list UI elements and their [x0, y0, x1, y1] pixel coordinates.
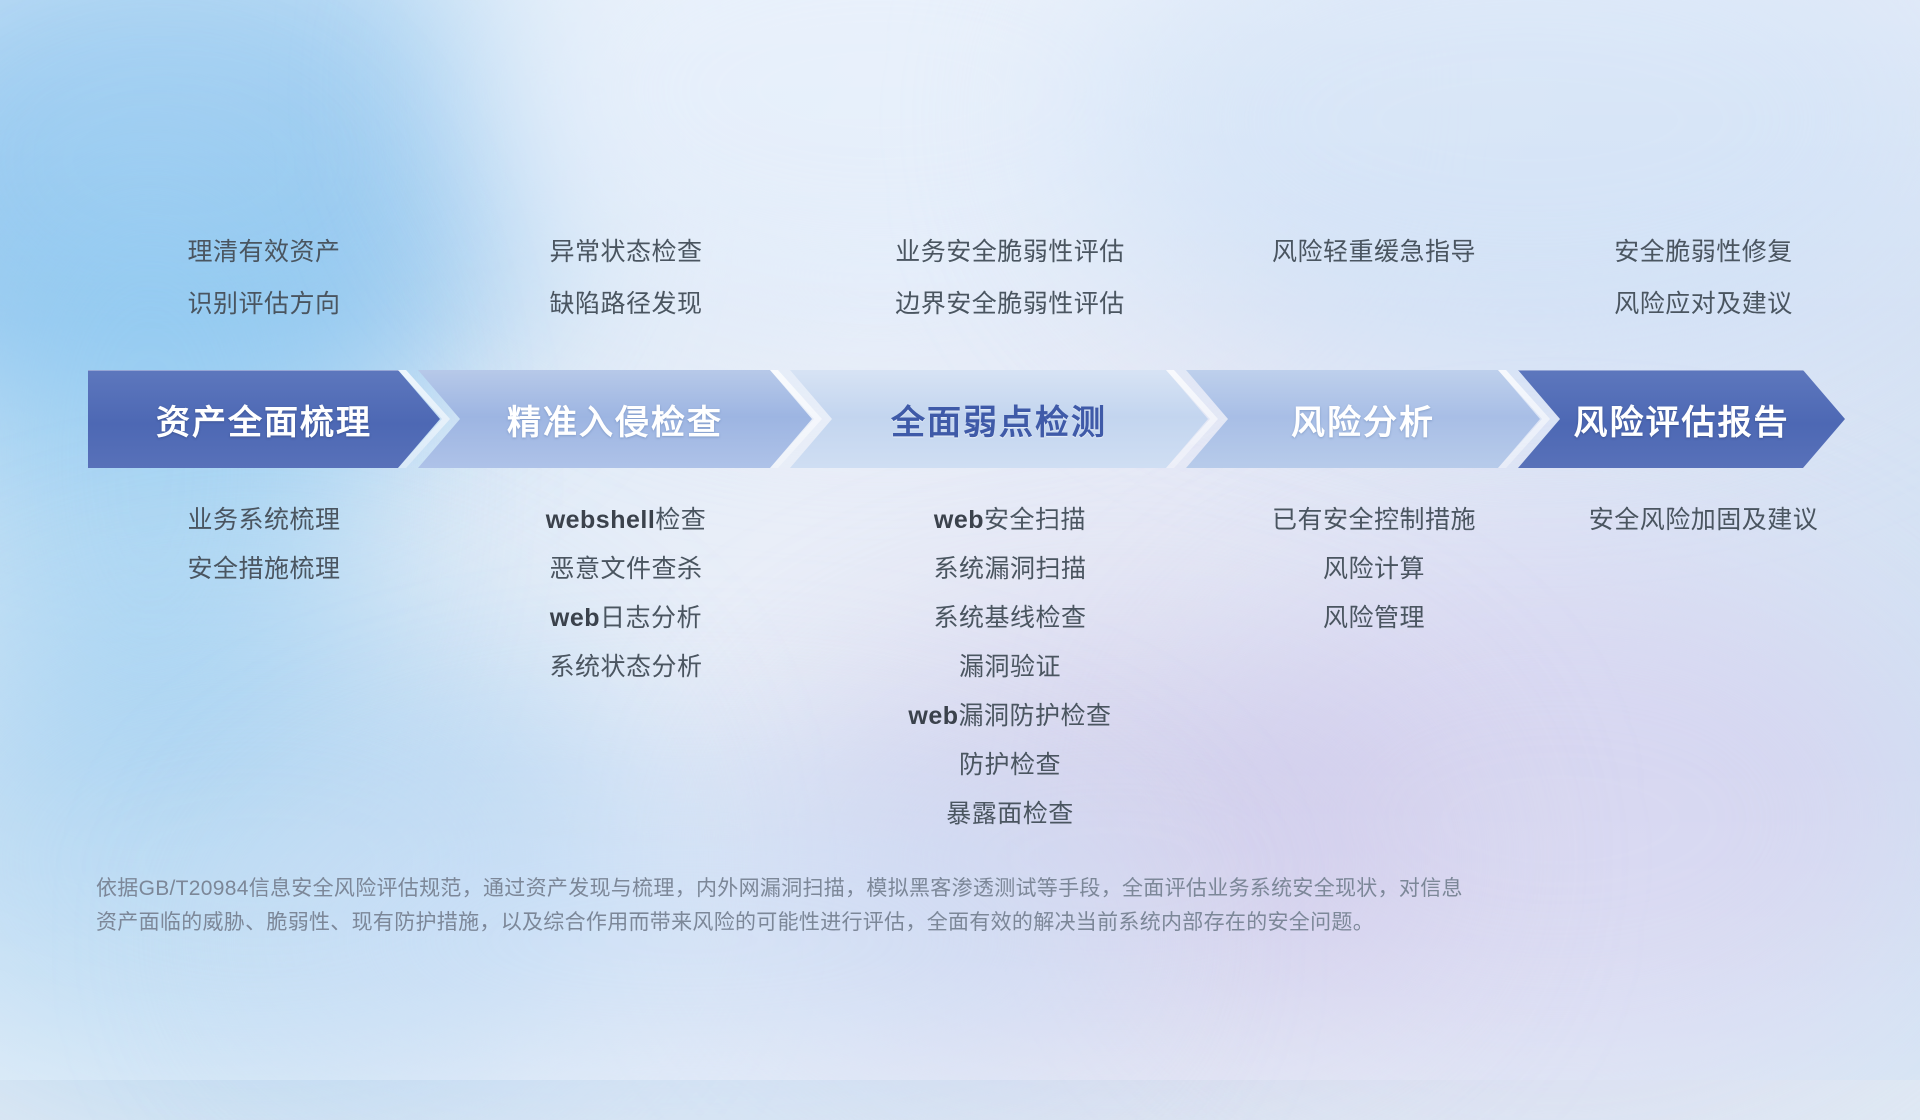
bottom-labels-risk-report: 安全风险加固及建议: [1540, 508, 1867, 827]
stage-title: 风险分析: [1186, 395, 1540, 444]
stage-chevron-weakness-detection[interactable]: 全面弱点检测: [790, 370, 1208, 468]
bottom-label: web安全扫描: [812, 508, 1208, 533]
stage-title: 资产全面梳理: [88, 395, 440, 444]
footer-line-1: 依据GB/T20984信息安全风险评估规范，通过资产发现与梳理，内外网漏洞扫描，…: [96, 872, 1656, 906]
stage-title: 精准入侵检查: [418, 395, 812, 444]
stage-title: 风险评估报告: [1518, 395, 1845, 444]
bottom-label: 风险管理: [1208, 606, 1540, 631]
top-labels-risk-analysis: 风险轻重缓急指导: [1208, 240, 1540, 317]
bottom-label: 暴露面检查: [812, 802, 1208, 827]
bottom-label: webshell检查: [440, 508, 812, 533]
bottom-label: web漏洞防护检查: [812, 704, 1208, 729]
top-label: 缺陷路径发现: [440, 292, 812, 317]
bottom-label: 系统状态分析: [440, 655, 812, 680]
bottom-label: 安全措施梳理: [88, 557, 440, 582]
top-labels-intrusion-check: 异常状态检查 缺陷路径发现: [440, 240, 812, 317]
top-label: 安全脆弱性修复: [1540, 240, 1867, 265]
bottom-label: 防护检查: [812, 753, 1208, 778]
bottom-label: 已有安全控制措施: [1208, 508, 1540, 533]
bottom-labels-intrusion-check: webshell检查 恶意文件查杀 web日志分析 系统状态分析: [440, 508, 812, 827]
top-label: 识别评估方向: [88, 292, 440, 317]
top-labels-weakness-detection: 业务安全脆弱性评估 边界安全脆弱性评估: [812, 240, 1208, 317]
top-label: 风险轻重缓急指导: [1208, 240, 1540, 265]
top-labels-risk-report: 安全脆弱性修复 风险应对及建议: [1540, 240, 1867, 317]
stage-chevron-intrusion-check[interactable]: 精准入侵检查: [418, 370, 812, 468]
top-labels-asset-inventory: 理清有效资产 识别评估方向: [88, 240, 440, 317]
bottom-label: 系统基线检查: [812, 606, 1208, 631]
bottom-label: web日志分析: [440, 606, 812, 631]
top-label: 边界安全脆弱性评估: [812, 292, 1208, 317]
stage-chevron-risk-analysis[interactable]: 风险分析: [1186, 370, 1540, 468]
bottom-labels-risk-analysis: 已有安全控制措施 风险计算 风险管理: [1208, 508, 1540, 827]
bottom-label: 业务系统梳理: [88, 508, 440, 533]
top-label: 风险应对及建议: [1540, 292, 1867, 317]
bottom-labels-weakness-detection: web安全扫描 系统漏洞扫描 系统基线检查 漏洞验证 web漏洞防护检查 防护检…: [812, 508, 1208, 827]
stage-title: 全面弱点检测: [790, 395, 1208, 444]
bottom-label-row: 业务系统梳理 安全措施梳理 webshell检查 恶意文件查杀 web日志分析 …: [0, 508, 1920, 827]
footer-line-2: 资产面临的威胁、脆弱性、现有防护措施，以及综合作用而带来风险的可能性进行评估，全…: [96, 906, 1656, 940]
process-diagram: 理清有效资产 识别评估方向 异常状态检查 缺陷路径发现 业务安全脆弱性评估 边界…: [0, 0, 1920, 1080]
bottom-labels-asset-inventory: 业务系统梳理 安全措施梳理: [88, 508, 440, 827]
stage-arrow-banner: 资产全面梳理 精准入侵检查 全面弱点检测 风险分析 风险评估报告: [88, 370, 1845, 468]
top-label: 业务安全脆弱性评估: [812, 240, 1208, 265]
bottom-label: 漏洞验证: [812, 655, 1208, 680]
top-label: 异常状态检查: [440, 240, 812, 265]
bottom-label: 系统漏洞扫描: [812, 557, 1208, 582]
top-label: 理清有效资产: [88, 240, 440, 265]
footer-description: 依据GB/T20984信息安全风险评估规范，通过资产发现与梳理，内外网漏洞扫描，…: [96, 872, 1656, 940]
stage-chevron-asset-inventory[interactable]: 资产全面梳理: [88, 370, 440, 468]
top-label-row: 理清有效资产 识别评估方向 异常状态检查 缺陷路径发现 业务安全脆弱性评估 边界…: [0, 240, 1920, 317]
bottom-label: 安全风险加固及建议: [1540, 508, 1867, 533]
bottom-label: 恶意文件查杀: [440, 557, 812, 582]
stage-chevron-risk-report[interactable]: 风险评估报告: [1518, 370, 1845, 468]
bottom-label: 风险计算: [1208, 557, 1540, 582]
